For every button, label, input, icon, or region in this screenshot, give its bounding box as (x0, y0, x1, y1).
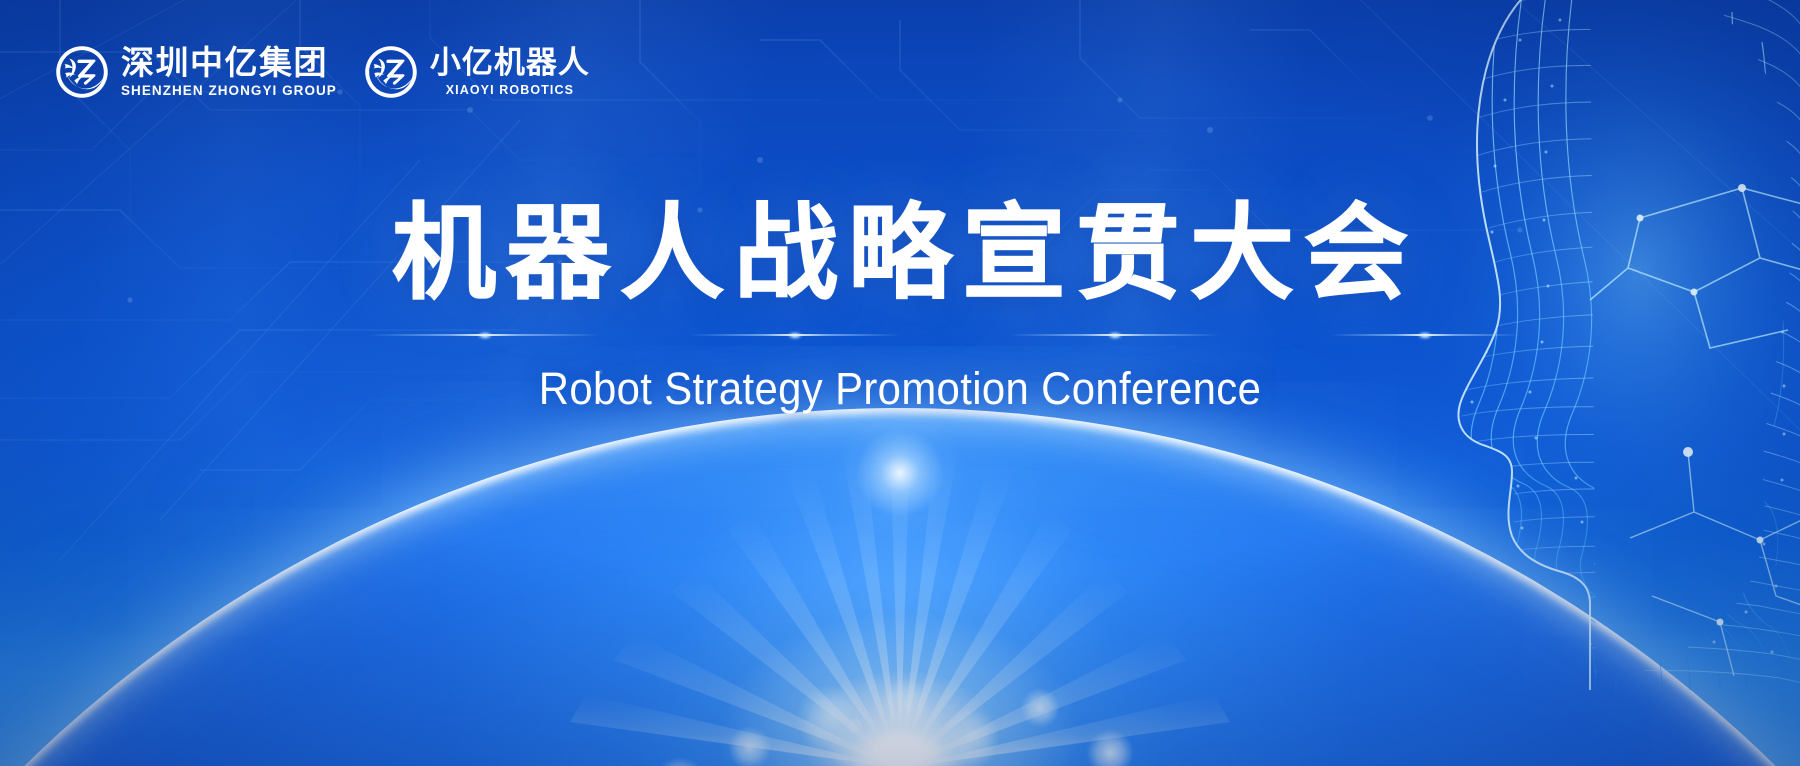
xiaoyi-circular-emblem-icon (363, 44, 419, 100)
conference-banner: 深圳中亿集团 SHENZHEN ZHONGYI GROUP 小亿机器人 XIAO… (0, 0, 1800, 766)
logo-xiaoyi-robotics: 小亿机器人 XIAOYI ROBOTICS (363, 44, 590, 100)
logo-cn-name: 小亿机器人 (430, 46, 590, 79)
logo-text-group: 深圳中亿集团 SHENZHEN ZHONGYI GROUP (121, 45, 337, 100)
logo-en-name: SHENZHEN ZHONGYI GROUP (121, 83, 337, 99)
logo-shenzhen-zhongyi-group: 深圳中亿集团 SHENZHEN ZHONGYI GROUP (54, 44, 337, 100)
logo-en-name: XIAOYI ROBOTICS (430, 83, 590, 98)
logo-cn-name: 深圳中亿集团 (121, 45, 337, 81)
background-gradient (0, 0, 1800, 766)
logo-bar: 深圳中亿集团 SHENZHEN ZHONGYI GROUP 小亿机器人 XIAO… (54, 44, 590, 100)
zhongyi-circular-emblem-icon (54, 44, 110, 100)
logo-text-group: 小亿机器人 XIAOYI ROBOTICS (430, 46, 590, 97)
